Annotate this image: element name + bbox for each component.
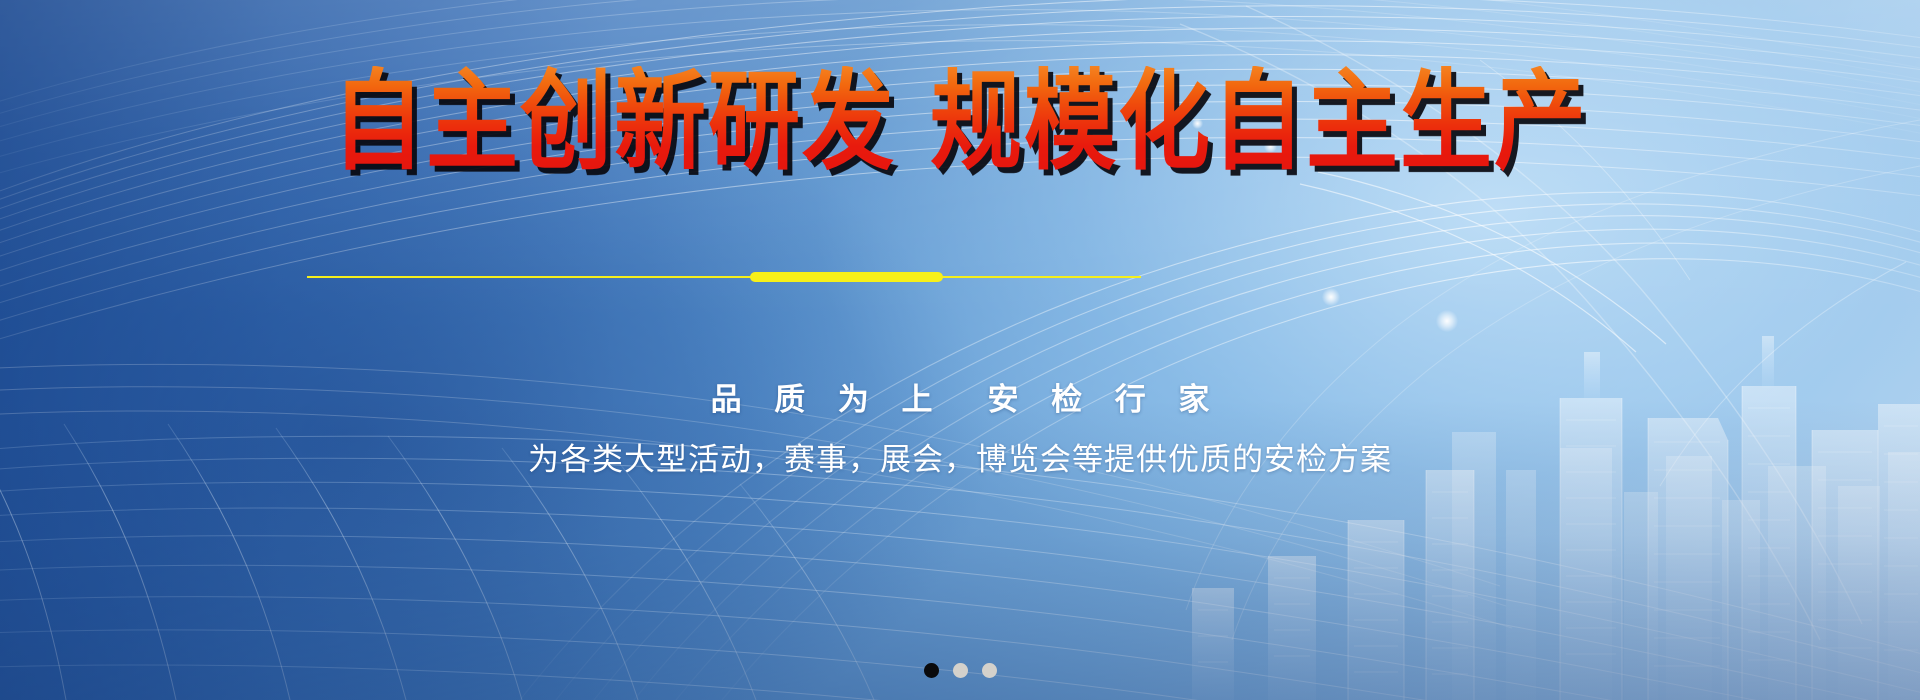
carousel-dot-3[interactable] [982, 663, 997, 678]
title-divider-highlight [750, 272, 943, 282]
carousel-dot-2[interactable] [953, 663, 968, 678]
banner-subtitle-secondary: 为各类大型活动，赛事，展会，博览会等提供优质的安检方案 [0, 434, 1920, 479]
carousel-dot-1[interactable] [924, 663, 939, 678]
title-divider [307, 276, 1141, 278]
hero-banner: 自主创新研发 规模化自主生产 品 质 为 上 安 检 行 家 为各类大型活动，赛… [0, 0, 1920, 700]
carousel-indicators[interactable] [0, 663, 1920, 678]
banner-subtitle-primary: 品 质 为 上 安 检 行 家 [0, 374, 1920, 419]
banner-headline: 自主创新研发 规模化自主生产 [0, 66, 1920, 180]
